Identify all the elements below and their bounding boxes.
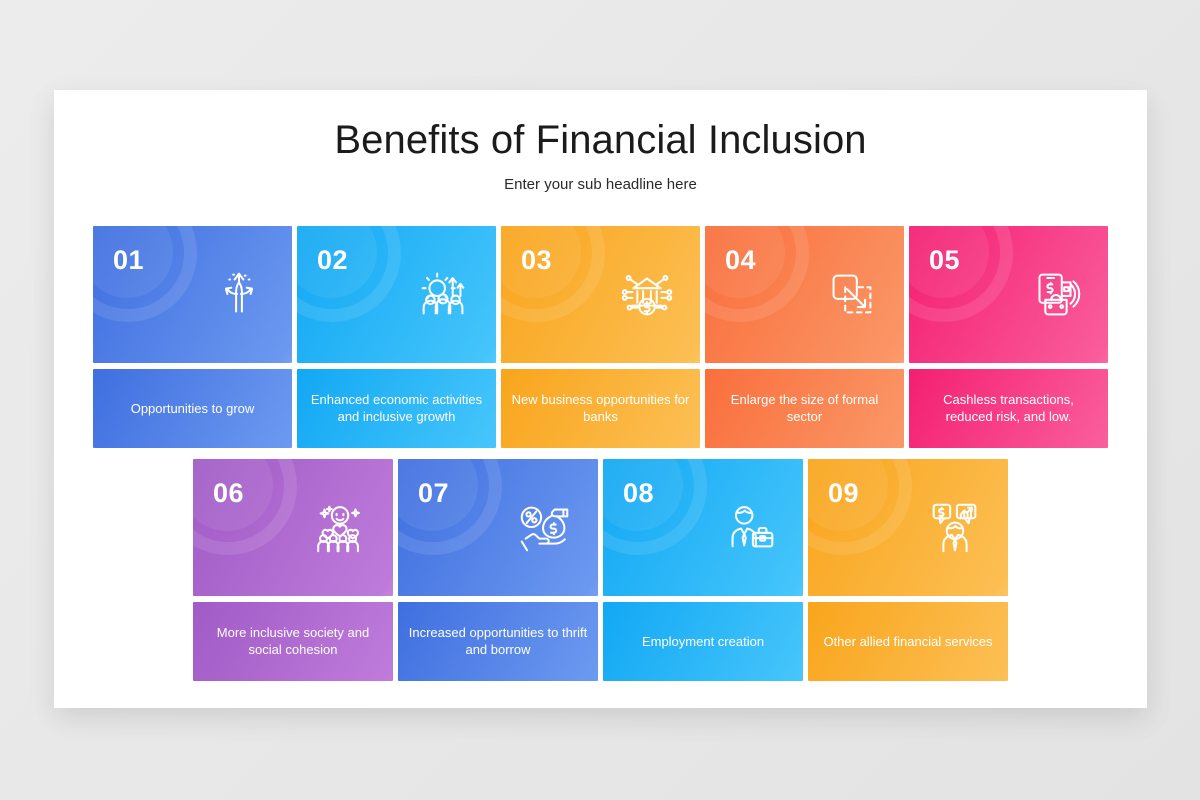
benefit-label-tile-06[interactable]: More inclusive society and social cohesi… [193, 602, 393, 681]
benefit-number: 06 [213, 478, 244, 509]
benefit-number: 08 [623, 478, 654, 509]
benefit-icon-tile-04[interactable]: 04 [705, 226, 904, 363]
benefit-icon-tile-03[interactable]: 03 [501, 226, 700, 363]
benefit-icon-tile-08[interactable]: 08 [603, 459, 803, 596]
benefit-number: 07 [418, 478, 449, 509]
benefit-card-06[interactable]: 06 More inclusive society and social coh… [193, 459, 393, 681]
benefit-label-text: Employment creation [642, 633, 764, 650]
card-row-one: 01 Opportunities to grow02 Enhanced econ… [54, 226, 1147, 448]
benefit-number: 02 [317, 245, 348, 276]
digital-bank-icon [616, 263, 678, 325]
businessman-briefcase-icon [719, 496, 781, 558]
benefit-label-text: Other allied financial services [823, 633, 992, 650]
slide-panel: Benefits of Financial Inclusion Enter yo… [54, 90, 1147, 708]
benefit-card-01[interactable]: 01 Opportunities to grow [93, 226, 292, 448]
page-title: Benefits of Financial Inclusion [54, 118, 1147, 163]
financial-advisor-icon [924, 496, 986, 558]
benefit-label-text: Opportunities to grow [131, 400, 255, 417]
mobile-payment-icon [1024, 263, 1086, 325]
benefit-label-tile-08[interactable]: Employment creation [603, 602, 803, 681]
benefit-card-05[interactable]: 05 Cashless transactions, reduced risk, … [909, 226, 1108, 448]
slide-header: Benefits of Financial Inclusion Enter yo… [54, 90, 1147, 193]
benefit-label-tile-05[interactable]: Cashless transactions, reduced risk, and… [909, 369, 1108, 448]
benefit-label-text: Enlarge the size of formal sector [715, 391, 894, 426]
benefit-card-09[interactable]: 09 Other allied financial services [808, 459, 1008, 681]
benefit-card-02[interactable]: 02 Enhanced economic activities and incl… [297, 226, 496, 448]
benefit-label-text: New business opportunities for banks [511, 391, 690, 426]
expand-resize-icon [820, 263, 882, 325]
benefit-icon-tile-06[interactable]: 06 [193, 459, 393, 596]
benefit-label-text: Enhanced economic activities and inclusi… [307, 391, 486, 426]
page-subtitle: Enter your sub headline here [54, 176, 1147, 193]
benefit-label-tile-02[interactable]: Enhanced economic activities and inclusi… [297, 369, 496, 448]
branching-arrows-icon [208, 263, 270, 325]
benefit-label-tile-04[interactable]: Enlarge the size of formal sector [705, 369, 904, 448]
benefit-number: 01 [113, 245, 144, 276]
benefit-icon-tile-07[interactable]: 07 [398, 459, 598, 596]
benefit-icon-tile-09[interactable]: 09 [808, 459, 1008, 596]
benefit-icon-tile-02[interactable]: 02 [297, 226, 496, 363]
benefit-number: 05 [929, 245, 960, 276]
benefit-card-08[interactable]: 08 Employment creation [603, 459, 803, 681]
benefit-label-text: Increased opportunities to thrift and bo… [408, 624, 588, 659]
benefit-icon-tile-01[interactable]: 01 [93, 226, 292, 363]
people-growth-icon [412, 263, 474, 325]
card-row-two: 06 More inclusive society and social coh… [54, 459, 1147, 681]
benefit-number: 03 [521, 245, 552, 276]
benefit-number: 09 [828, 478, 859, 509]
benefit-card-07[interactable]: 07 Increased opportunities to thrift and… [398, 459, 598, 681]
benefit-label-text: Cashless transactions, reduced risk, and… [919, 391, 1098, 426]
benefit-label-tile-01[interactable]: Opportunities to grow [93, 369, 292, 448]
benefit-card-03[interactable]: 03 New business opportunities for banks [501, 226, 700, 448]
benefit-label-tile-07[interactable]: Increased opportunities to thrift and bo… [398, 602, 598, 681]
benefit-icon-tile-05[interactable]: 05 [909, 226, 1108, 363]
benefit-label-text: More inclusive society and social cohesi… [203, 624, 383, 659]
benefit-number: 04 [725, 245, 756, 276]
benefit-label-tile-09[interactable]: Other allied financial services [808, 602, 1008, 681]
loan-hand-money-icon [514, 496, 576, 558]
benefit-card-04[interactable]: 04 Enlarge the size of formal sector [705, 226, 904, 448]
benefit-label-tile-03[interactable]: New business opportunities for banks [501, 369, 700, 448]
happy-community-icon [309, 496, 371, 558]
